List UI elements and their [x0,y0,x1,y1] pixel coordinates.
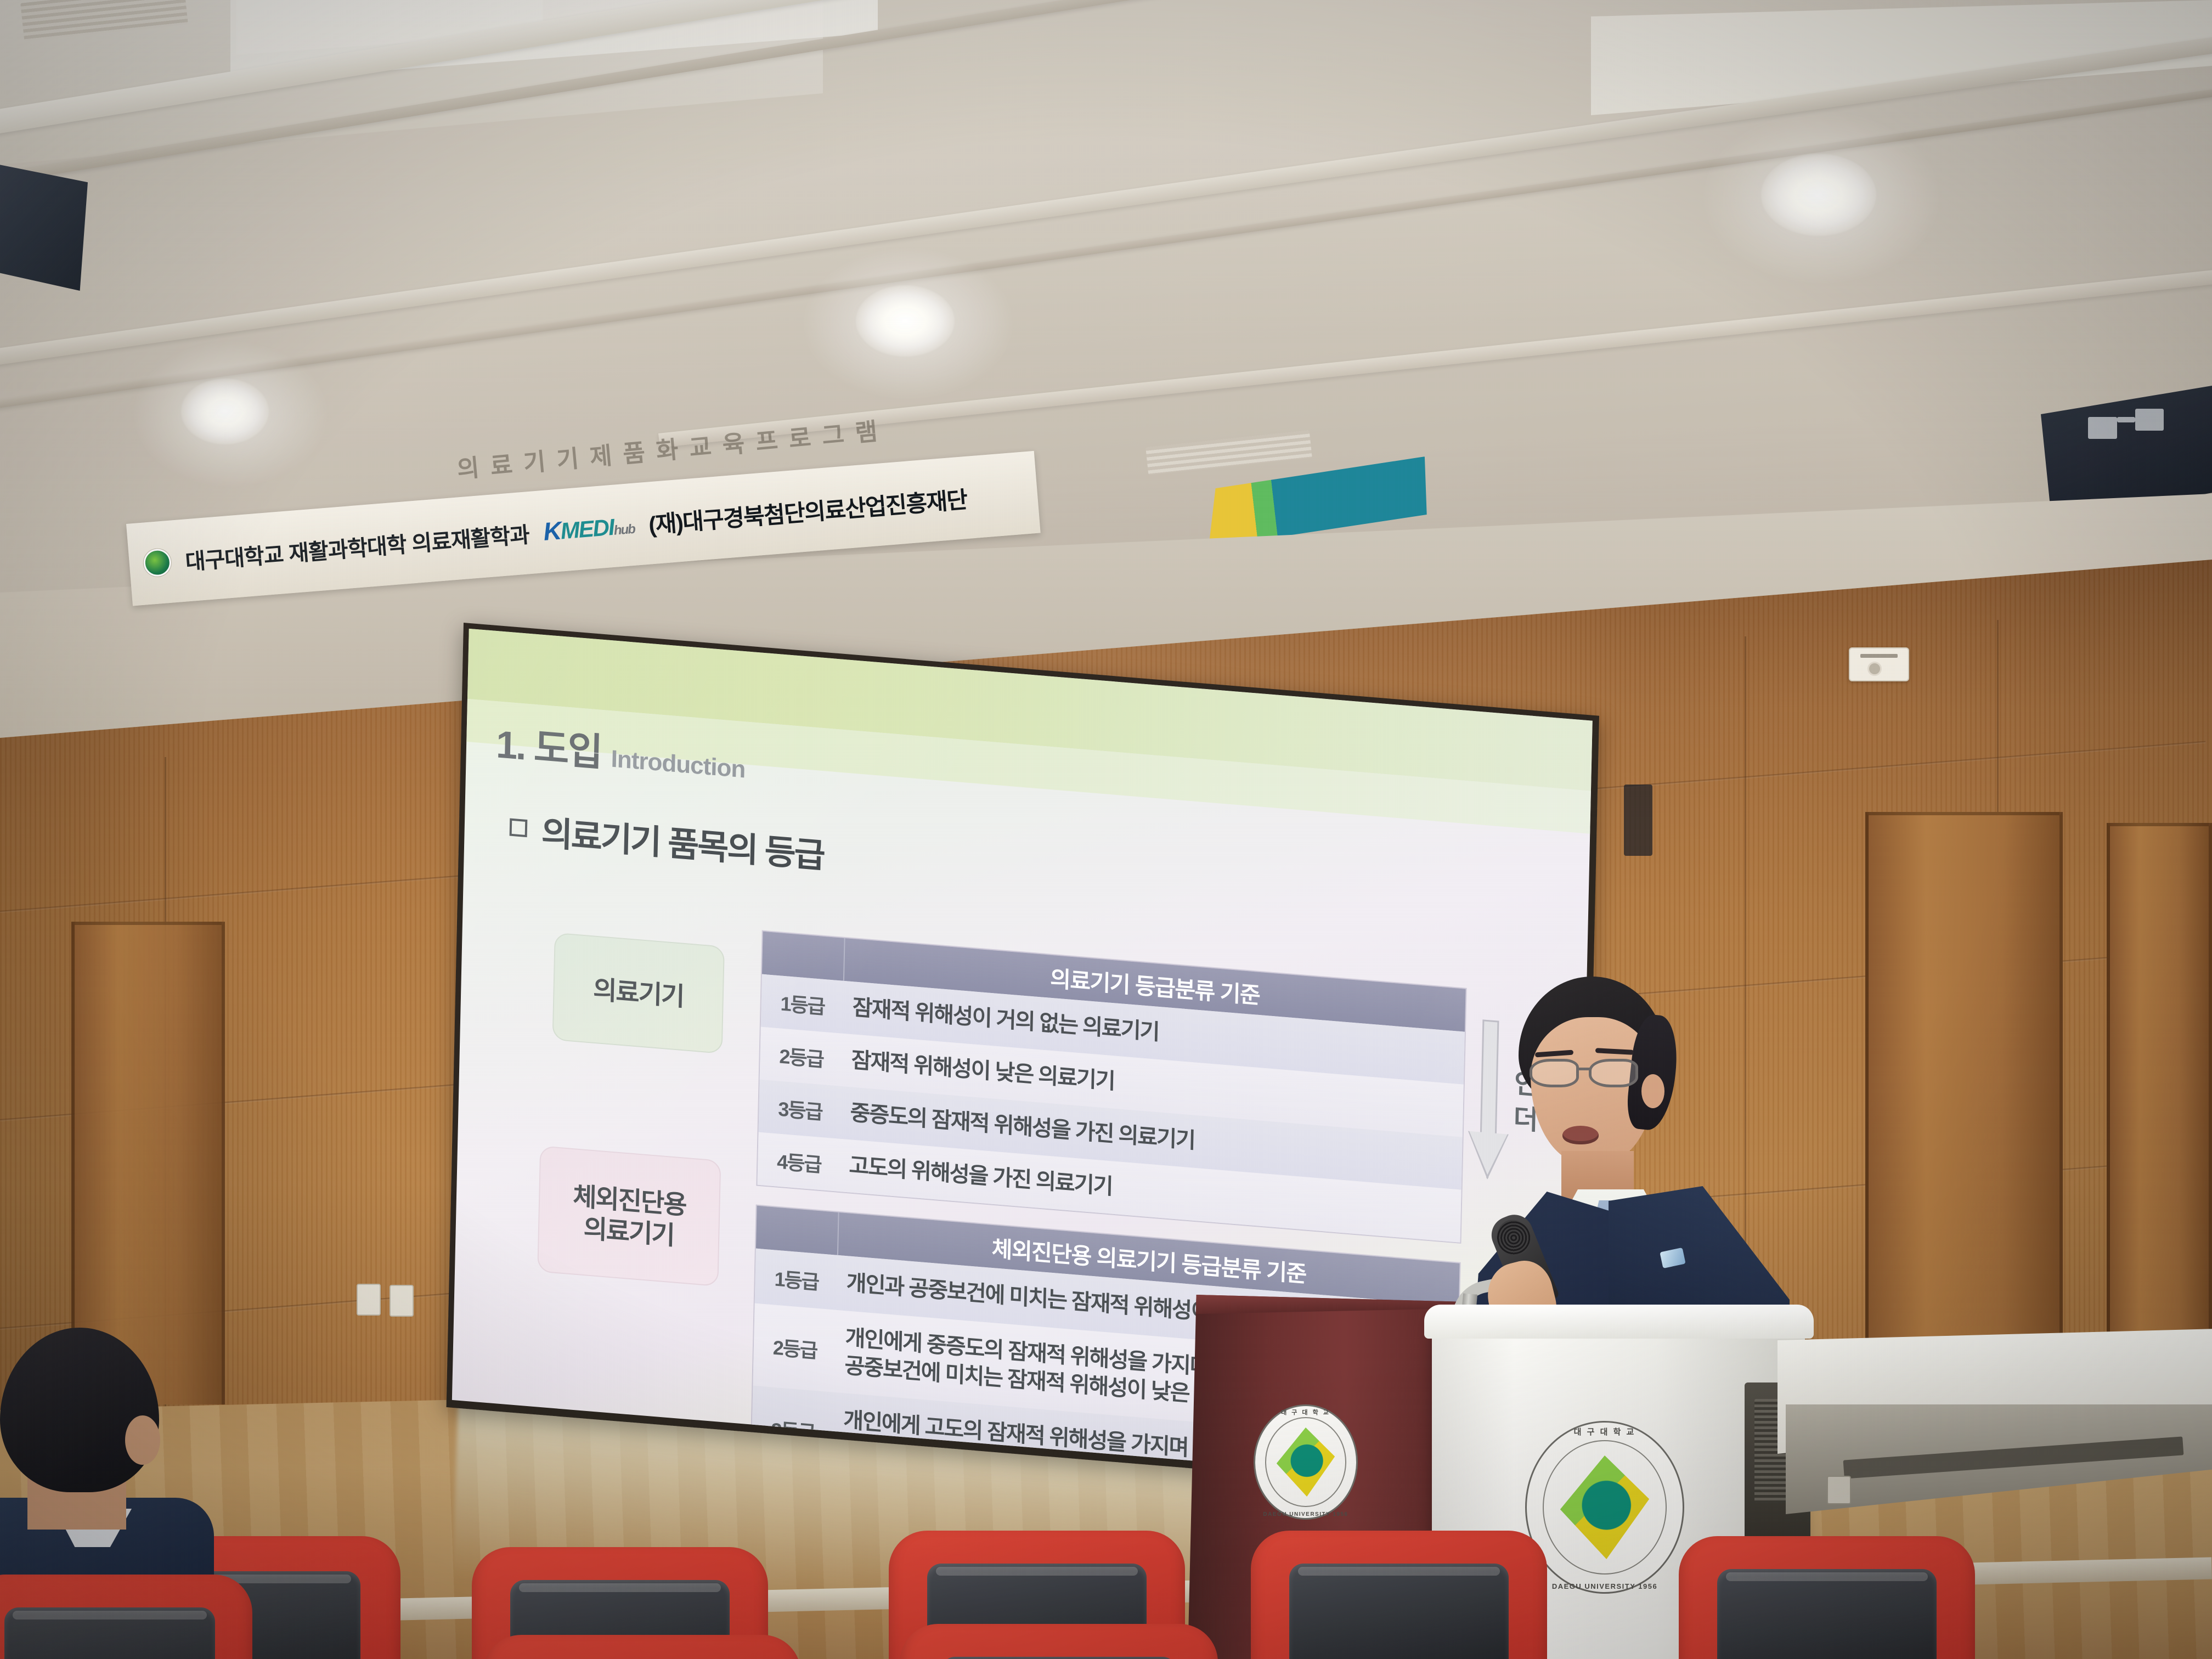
auditorium-seat[interactable] [0,1575,252,1659]
slide-title-english: Introduction [611,745,746,783]
speaker-mouth [1562,1126,1599,1144]
emblem-arc-bottom-english: DAEGU UNIVERSITY 1956 [1254,1511,1358,1517]
category-a-label: 의료기기 [593,974,684,1013]
side-desk-knob[interactable] [1827,1476,1851,1504]
emblem-arc-top-korean: 대 구 대 학 교 [1254,1408,1358,1417]
auditorium-seat[interactable] [483,1635,801,1659]
table1-row2-grade: 2등급 [760,1027,843,1086]
slide-title-korean: 1. 도입 [495,713,602,777]
kmedi-k-letter: K [542,516,561,546]
ceiling-downlight-1 [181,379,269,444]
kmedi-hub-letters: hub [613,522,635,539]
category-box-medical-device: 의료기기 [552,933,725,1054]
podium-emblem-arc-top: 대 구 대 학 교 [1525,1426,1684,1437]
category-box-ivd-device: 체외진단용 의료기기 [537,1145,721,1286]
podium-emblem-arc-bottom: DAEGU UNIVERSITY 1956 [1525,1582,1684,1590]
bullet-square-icon [510,819,528,838]
podium-emblem: 대 구 대 학 교 DAEGU UNIVERSITY 1956 [1525,1421,1684,1594]
ceiling-downlight-2 [856,285,955,357]
auditorium-seat[interactable] [1679,1536,1975,1659]
audience-ear [125,1415,160,1465]
microphone-grille [1492,1215,1536,1261]
control-panel-dial-icon [1867,662,1882,676]
ceiling-vent-right [1145,430,1312,475]
lectern-emblem-wooden: 대 구 대 학 교 DAEGU UNIVERSITY 1956 [1254,1404,1358,1520]
table1-row1-grade: 1등급 [761,974,844,1034]
wall-fixture-strip [1624,785,1652,856]
banner-organization-text: (재)대구경북첨단의료산업진흥재단 [647,481,968,540]
exit-door-right[interactable] [1865,812,2063,1377]
table2-header-left-cell [756,1206,839,1255]
wall-control-panel[interactable] [1849,647,1909,681]
auditorium-seat[interactable] [1251,1531,1547,1659]
table1-header-left-cell [762,932,845,981]
kmedihub-logo-icon: K MEDI hub [542,510,635,546]
category-b-label-line2: 의료기기 [583,1212,674,1251]
table2-row1-grade: 1등급 [755,1249,838,1310]
table1-row4-grade: 4등급 [757,1132,840,1192]
lecture-hall-photo: 의 료 기 기 제 품 화 교 육 프 로 그 램 대구대학교 재활과학대학 의… [0,0,2212,1659]
table-medical-device-grades: 의료기기 등급분류 기준 1등급 잠재적 위해성이 거의 없는 의료기기 2등급… [756,930,1466,1244]
table1-row3-grade: 3등급 [759,1080,842,1139]
kmedi-medi-letters: MEDI [560,514,615,545]
ceiling-downlight-3 [1761,154,1876,236]
wall-outlet-2[interactable] [390,1285,414,1317]
table2-row2-grade: 2등급 [753,1304,837,1392]
audience-head [0,1328,159,1492]
eyeglasses-icon [1530,1059,1661,1090]
white-podium-top [1424,1305,1814,1339]
exit-door-far-right[interactable] [2107,823,2212,1377]
ceiling-speaker-left-icon [0,165,88,291]
daegu-university-logo-icon [143,548,172,578]
slide-subtitle-text: 의료기기 품목의 등급 [541,805,825,877]
wall-outlet-1[interactable] [357,1284,381,1316]
control-panel-label [1860,654,1898,658]
banner-department-text: 대구대학교 재활과학대학 의료재활학과 [184,517,530,576]
slide-subtitle: 의료기기 품목의 등급 [509,803,825,878]
auditorium-seat[interactable] [900,1624,1218,1659]
